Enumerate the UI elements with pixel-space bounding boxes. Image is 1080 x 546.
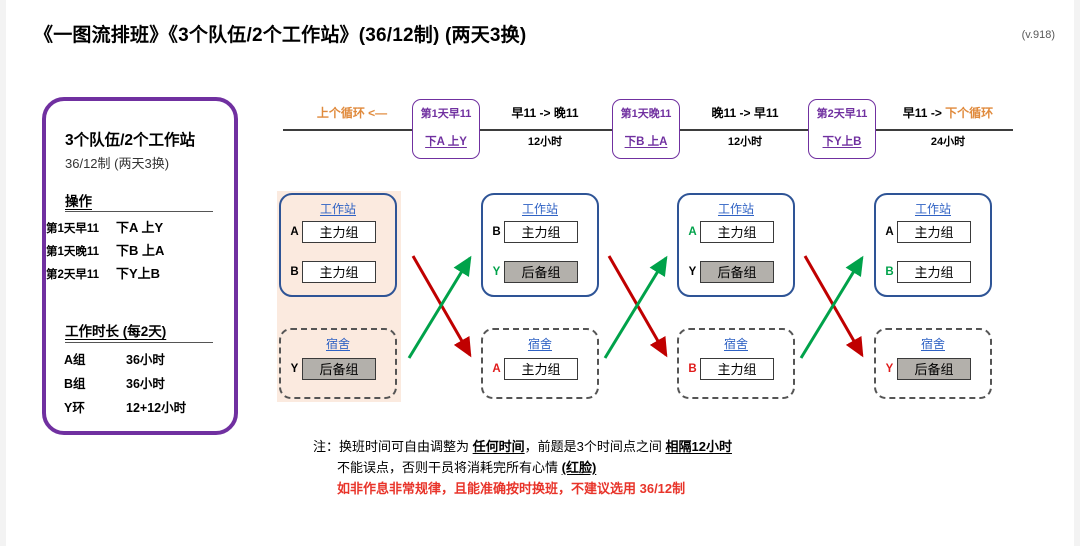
group-chip: 主力组 bbox=[700, 358, 774, 380]
timeline-segment-2: 晚11 -> 早11 12小时 bbox=[686, 104, 804, 149]
right-edge-strip bbox=[1074, 0, 1080, 546]
prev-cycle-label: 上个循环 <— bbox=[292, 104, 412, 121]
dormitory-box-2: 宿舍 A 主力组 bbox=[481, 328, 599, 399]
timeline-segment-duration: 12小时 bbox=[486, 133, 604, 149]
operations-action: 下Y上B bbox=[116, 263, 160, 282]
workstation-slot: B 主力组 bbox=[489, 221, 578, 243]
timeline-mark-swap: 下A 上Y bbox=[413, 133, 479, 149]
timeline-segment-range-text: 早11 -> bbox=[903, 106, 942, 120]
diagram-page: 《一图流排班》《3个队伍/2个工作站》(36/12制) (两天3换) (v.91… bbox=[0, 0, 1080, 546]
team-label: A bbox=[882, 226, 897, 238]
info-panel-title: 3个队伍/2个工作站 bbox=[65, 128, 195, 150]
team-label: B bbox=[287, 266, 302, 278]
dormitory-box-1: 宿舍 Y 后备组 bbox=[279, 328, 397, 399]
workstation-heading: 工作站 bbox=[281, 200, 395, 217]
note-line-2-emph: (红脸) bbox=[562, 460, 597, 475]
group-chip: 主力组 bbox=[504, 221, 578, 243]
timeline-mark-time: 第1天早11 bbox=[413, 105, 479, 121]
timeline-mark-2: 第1天晚11 下B 上A bbox=[612, 99, 680, 159]
workstation-slot: A 主力组 bbox=[882, 221, 971, 243]
dormitory-heading: 宿舍 bbox=[281, 335, 395, 352]
group-chip: 后备组 bbox=[302, 358, 376, 380]
team-label: Y bbox=[489, 266, 504, 278]
work-hours-heading: 工作时长 (每2天) bbox=[65, 320, 166, 340]
work-hours-value: 36小时 bbox=[126, 349, 165, 368]
dormitory-slot: A 主力组 bbox=[489, 358, 578, 380]
work-hours-value: 12+12小时 bbox=[126, 397, 186, 416]
note-line-2-a: 不能误点，否则干员将消耗完所有心情 bbox=[337, 460, 562, 475]
timeline-mark-swap: 下B 上A bbox=[613, 133, 679, 149]
timeline-mark-swap: 下Y上B bbox=[809, 133, 875, 149]
group-chip: 主力组 bbox=[700, 221, 774, 243]
timeline-segment-3: 早11 -> 下个循环 24小时 bbox=[882, 104, 1014, 149]
workstation-slot: A 主力组 bbox=[287, 221, 376, 243]
team-label: B bbox=[685, 363, 700, 375]
dormitory-heading: 宿舍 bbox=[876, 335, 990, 352]
left-edge-strip bbox=[0, 0, 6, 546]
workstation-slot: Y 后备组 bbox=[685, 261, 774, 283]
group-chip: 后备组 bbox=[897, 358, 971, 380]
version-label: (v.918) bbox=[1022, 29, 1055, 41]
operations-row: 第2天早11下Y上B bbox=[46, 263, 160, 282]
team-label: A bbox=[287, 226, 302, 238]
note-line-1-emph-2: 相隔12小时 bbox=[665, 439, 731, 454]
team-label: A bbox=[685, 226, 700, 238]
workstation-heading: 工作站 bbox=[679, 200, 793, 217]
work-hours-row: B组36小时 bbox=[46, 373, 165, 392]
operations-row: 第1天晚11下B 上A bbox=[46, 240, 164, 259]
dormitory-box-4: 宿舍 Y 后备组 bbox=[874, 328, 992, 399]
timeline-segment-range: 早11 -> 晚11 bbox=[486, 104, 604, 121]
operations-rule bbox=[65, 211, 213, 212]
team-label: B bbox=[882, 266, 897, 278]
work-hours-team: B组 bbox=[46, 373, 126, 392]
dormitory-slot: Y 后备组 bbox=[287, 358, 376, 380]
operations-row: 第1天早11下A 上Y bbox=[46, 217, 163, 236]
work-hours-value: 36小时 bbox=[126, 373, 165, 392]
info-panel-subtitle: 36/12制 (两天3换) bbox=[65, 153, 169, 172]
timeline-segment-duration: 24小时 bbox=[882, 133, 1014, 149]
timeline-mark-time: 第2天早11 bbox=[809, 105, 875, 121]
team-label: Y bbox=[685, 266, 700, 278]
operations-time: 第1天晚11 bbox=[46, 243, 116, 259]
work-hours-rule bbox=[65, 342, 213, 343]
workstation-heading: 工作站 bbox=[876, 200, 990, 217]
workstation-box-1: 工作站 A 主力组 B 主力组 bbox=[279, 193, 397, 297]
workstation-slot: B 主力组 bbox=[287, 261, 376, 283]
dormitory-box-3: 宿舍 B 主力组 bbox=[677, 328, 795, 399]
dormitory-heading: 宿舍 bbox=[679, 335, 793, 352]
group-chip: 主力组 bbox=[897, 221, 971, 243]
workstation-box-2: 工作站 B 主力组 Y 后备组 bbox=[481, 193, 599, 297]
workstation-box-3: 工作站 A 主力组 Y 后备组 bbox=[677, 193, 795, 297]
timeline-mark-time: 第1天晚11 bbox=[613, 105, 679, 121]
workstation-box-4: 工作站 A 主力组 B 主力组 bbox=[874, 193, 992, 297]
group-chip: 主力组 bbox=[504, 358, 578, 380]
operations-time: 第2天早11 bbox=[46, 266, 116, 282]
group-chip: 后备组 bbox=[700, 261, 774, 283]
timeline-segment-duration: 12小时 bbox=[686, 133, 804, 149]
next-cycle-label: 下个循环 bbox=[945, 106, 993, 120]
notes-block: 注：换班时间可自由调整为 任何时间，前题是3个时间点之间 相隔12小时 不能误点… bbox=[313, 436, 732, 499]
page-title: 《一图流排班》《3个队伍/2个工作站》(36/12制) (两天3换) bbox=[34, 20, 526, 47]
work-hours-row: Y环12+12小时 bbox=[46, 397, 186, 416]
workstation-slot: B 主力组 bbox=[882, 261, 971, 283]
group-chip: 主力组 bbox=[302, 221, 376, 243]
timeline-segment-range: 早11 -> 下个循环 bbox=[882, 104, 1014, 121]
dormitory-slot: B 主力组 bbox=[685, 358, 774, 380]
team-label: A bbox=[489, 363, 504, 375]
timeline-mark-1: 第1天早11 下A 上Y bbox=[412, 99, 480, 159]
timeline-segment-1: 早11 -> 晚11 12小时 bbox=[486, 104, 604, 149]
operations-action: 下B 上A bbox=[116, 240, 164, 259]
note-line-3: 如非作息非常规律，且能准确按时换班，不建议选用 36/12制 bbox=[313, 478, 732, 499]
note-line-1: 注：换班时间可自由调整为 任何时间，前题是3个时间点之间 相隔12小时 bbox=[313, 436, 732, 457]
operations-action: 下A 上Y bbox=[116, 217, 163, 236]
team-label: B bbox=[489, 226, 504, 238]
operations-time: 第1天早11 bbox=[46, 220, 116, 236]
operations-heading: 操作 bbox=[65, 190, 92, 210]
timeline-mark-3: 第2天早11 下Y上B bbox=[808, 99, 876, 159]
team-label: Y bbox=[287, 363, 302, 375]
note-line-2: 不能误点，否则干员将消耗完所有心情 (红脸) bbox=[313, 457, 732, 478]
workstation-heading: 工作站 bbox=[483, 200, 597, 217]
group-chip: 后备组 bbox=[504, 261, 578, 283]
work-hours-team: Y环 bbox=[46, 397, 126, 416]
dormitory-slot: Y 后备组 bbox=[882, 358, 971, 380]
timeline-prev-cycle: 上个循环 <— bbox=[292, 104, 412, 121]
group-chip: 主力组 bbox=[302, 261, 376, 283]
note-line-1-a: 注：换班时间可自由调整为 bbox=[313, 439, 473, 454]
dormitory-heading: 宿舍 bbox=[483, 335, 597, 352]
work-hours-team: A组 bbox=[46, 349, 126, 368]
timeline-segment-range: 晚11 -> 早11 bbox=[686, 104, 804, 121]
group-chip: 主力组 bbox=[897, 261, 971, 283]
team-label: Y bbox=[882, 363, 897, 375]
note-line-1-c: ，前题是3个时间点之间 bbox=[525, 439, 666, 454]
workstation-slot: Y 后备组 bbox=[489, 261, 578, 283]
workstation-slot: A 主力组 bbox=[685, 221, 774, 243]
note-line-1-emph-1: 任何时间 bbox=[473, 439, 525, 454]
info-panel: 3个队伍/2个工作站 36/12制 (两天3换) 操作 第1天早11下A 上Y … bbox=[42, 97, 238, 435]
work-hours-row: A组36小时 bbox=[46, 349, 165, 368]
